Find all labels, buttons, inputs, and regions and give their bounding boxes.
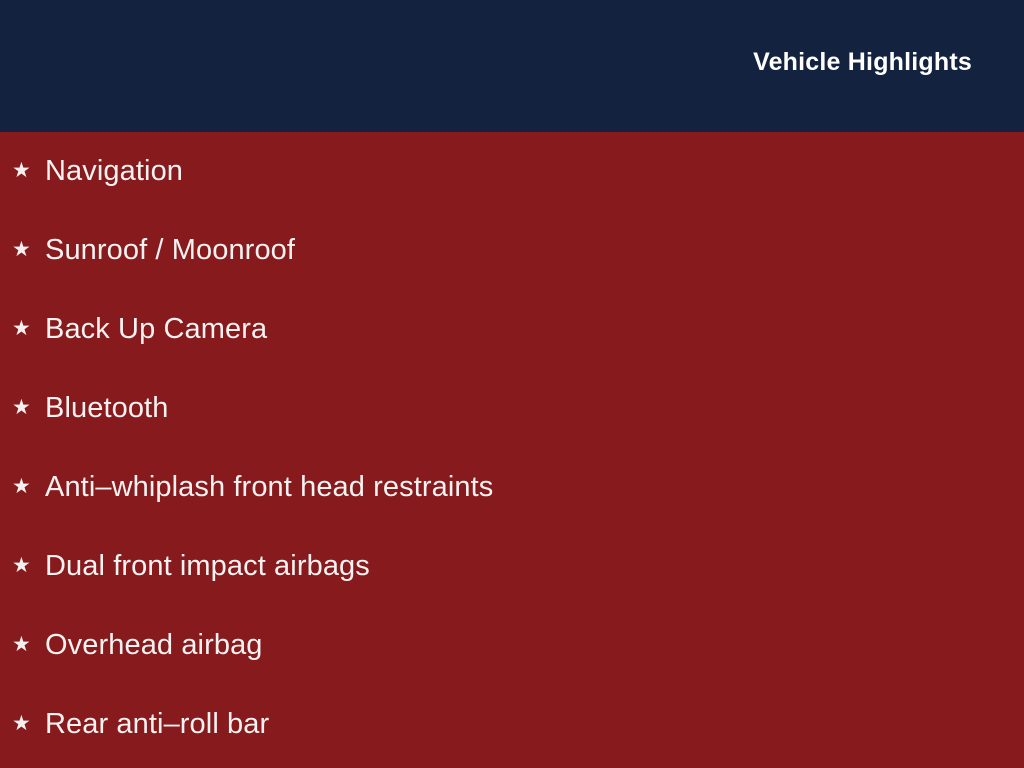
list-item-label: Sunroof / Moonroof [45, 235, 295, 267]
list-item: ★ Navigation [0, 132, 1024, 211]
star-icon: ★ [12, 634, 31, 655]
slide-header: Vehicle Highlights [0, 0, 1024, 132]
list-item-label: Navigation [45, 156, 183, 188]
list-item-label: Rear anti–roll bar [45, 709, 269, 741]
list-item-label: Overhead airbag [45, 630, 263, 662]
star-icon: ★ [12, 239, 31, 260]
list-item: ★ Sunroof / Moonroof [0, 211, 1024, 290]
list-item: ★ Rear anti–roll bar [0, 685, 1024, 764]
star-icon: ★ [12, 713, 31, 734]
star-icon: ★ [12, 397, 31, 418]
list-item-label: Back Up Camera [45, 314, 267, 346]
list-item: ★ Overhead airbag [0, 606, 1024, 685]
slide-content: ★ Navigation ★ Sunroof / Moonroof ★ Back… [0, 132, 1024, 768]
list-item-label: Dual front impact airbags [45, 551, 370, 583]
list-item: ★ Bluetooth [0, 369, 1024, 448]
vehicle-highlights-list: ★ Navigation ★ Sunroof / Moonroof ★ Back… [0, 132, 1024, 764]
list-item: ★ Anti–whiplash front head restraints [0, 448, 1024, 527]
vehicle-highlights-slide: Vehicle Highlights ★ Navigation ★ Sunroo… [0, 0, 1024, 768]
star-icon: ★ [12, 318, 31, 339]
list-item-label: Anti–whiplash front head restraints [45, 472, 493, 504]
star-icon: ★ [12, 555, 31, 576]
list-item: ★ Back Up Camera [0, 290, 1024, 369]
page-title: Vehicle Highlights [753, 48, 972, 77]
star-icon: ★ [12, 160, 31, 181]
list-item: ★ Dual front impact airbags [0, 527, 1024, 606]
list-item-label: Bluetooth [45, 393, 168, 425]
star-icon: ★ [12, 476, 31, 497]
